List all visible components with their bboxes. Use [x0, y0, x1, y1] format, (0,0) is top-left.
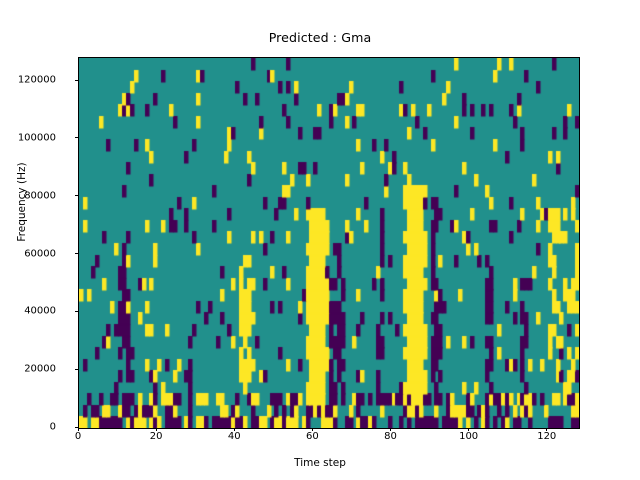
y-tick-label: 40000: [24, 306, 56, 317]
y-tick-label: 120000: [18, 75, 56, 86]
y-tick-label: 100000: [18, 132, 56, 143]
x-tick-mark: [234, 428, 235, 432]
x-tick-label: 100: [459, 431, 478, 442]
heatmap-image: [79, 58, 579, 428]
y-tick-mark: [75, 195, 79, 196]
x-tick-label: 20: [150, 431, 163, 442]
x-tick-label: 120: [537, 431, 556, 442]
x-axis-label: Time step: [0, 457, 640, 469]
matplotlib-figure: Predicted : Gma Frequency (Hz) Time step…: [0, 0, 640, 480]
y-tick-label: 60000: [24, 248, 56, 259]
y-tick-mark: [75, 369, 79, 370]
y-axis-label: Frequency (Hz): [16, 2, 28, 402]
y-tick-mark: [75, 80, 79, 81]
x-tick-mark: [78, 428, 79, 432]
x-tick-label: 0: [75, 431, 81, 442]
y-tick-mark: [75, 311, 79, 312]
x-tick-label: 80: [384, 431, 397, 442]
x-tick-mark: [390, 428, 391, 432]
x-tick-mark: [546, 428, 547, 432]
y-tick-mark: [75, 253, 79, 254]
y-tick-mark: [75, 137, 79, 138]
x-tick-mark: [156, 428, 157, 432]
x-tick-mark: [468, 428, 469, 432]
chart-title: Predicted : Gma: [0, 30, 640, 45]
y-tick-label: 80000: [24, 190, 56, 201]
x-tick-label: 40: [228, 431, 241, 442]
y-tick-label: 0: [50, 422, 56, 433]
y-tick-label: 20000: [24, 364, 56, 375]
x-tick-label: 60: [306, 431, 319, 442]
heatmap-axes: [78, 57, 580, 429]
x-tick-mark: [312, 428, 313, 432]
